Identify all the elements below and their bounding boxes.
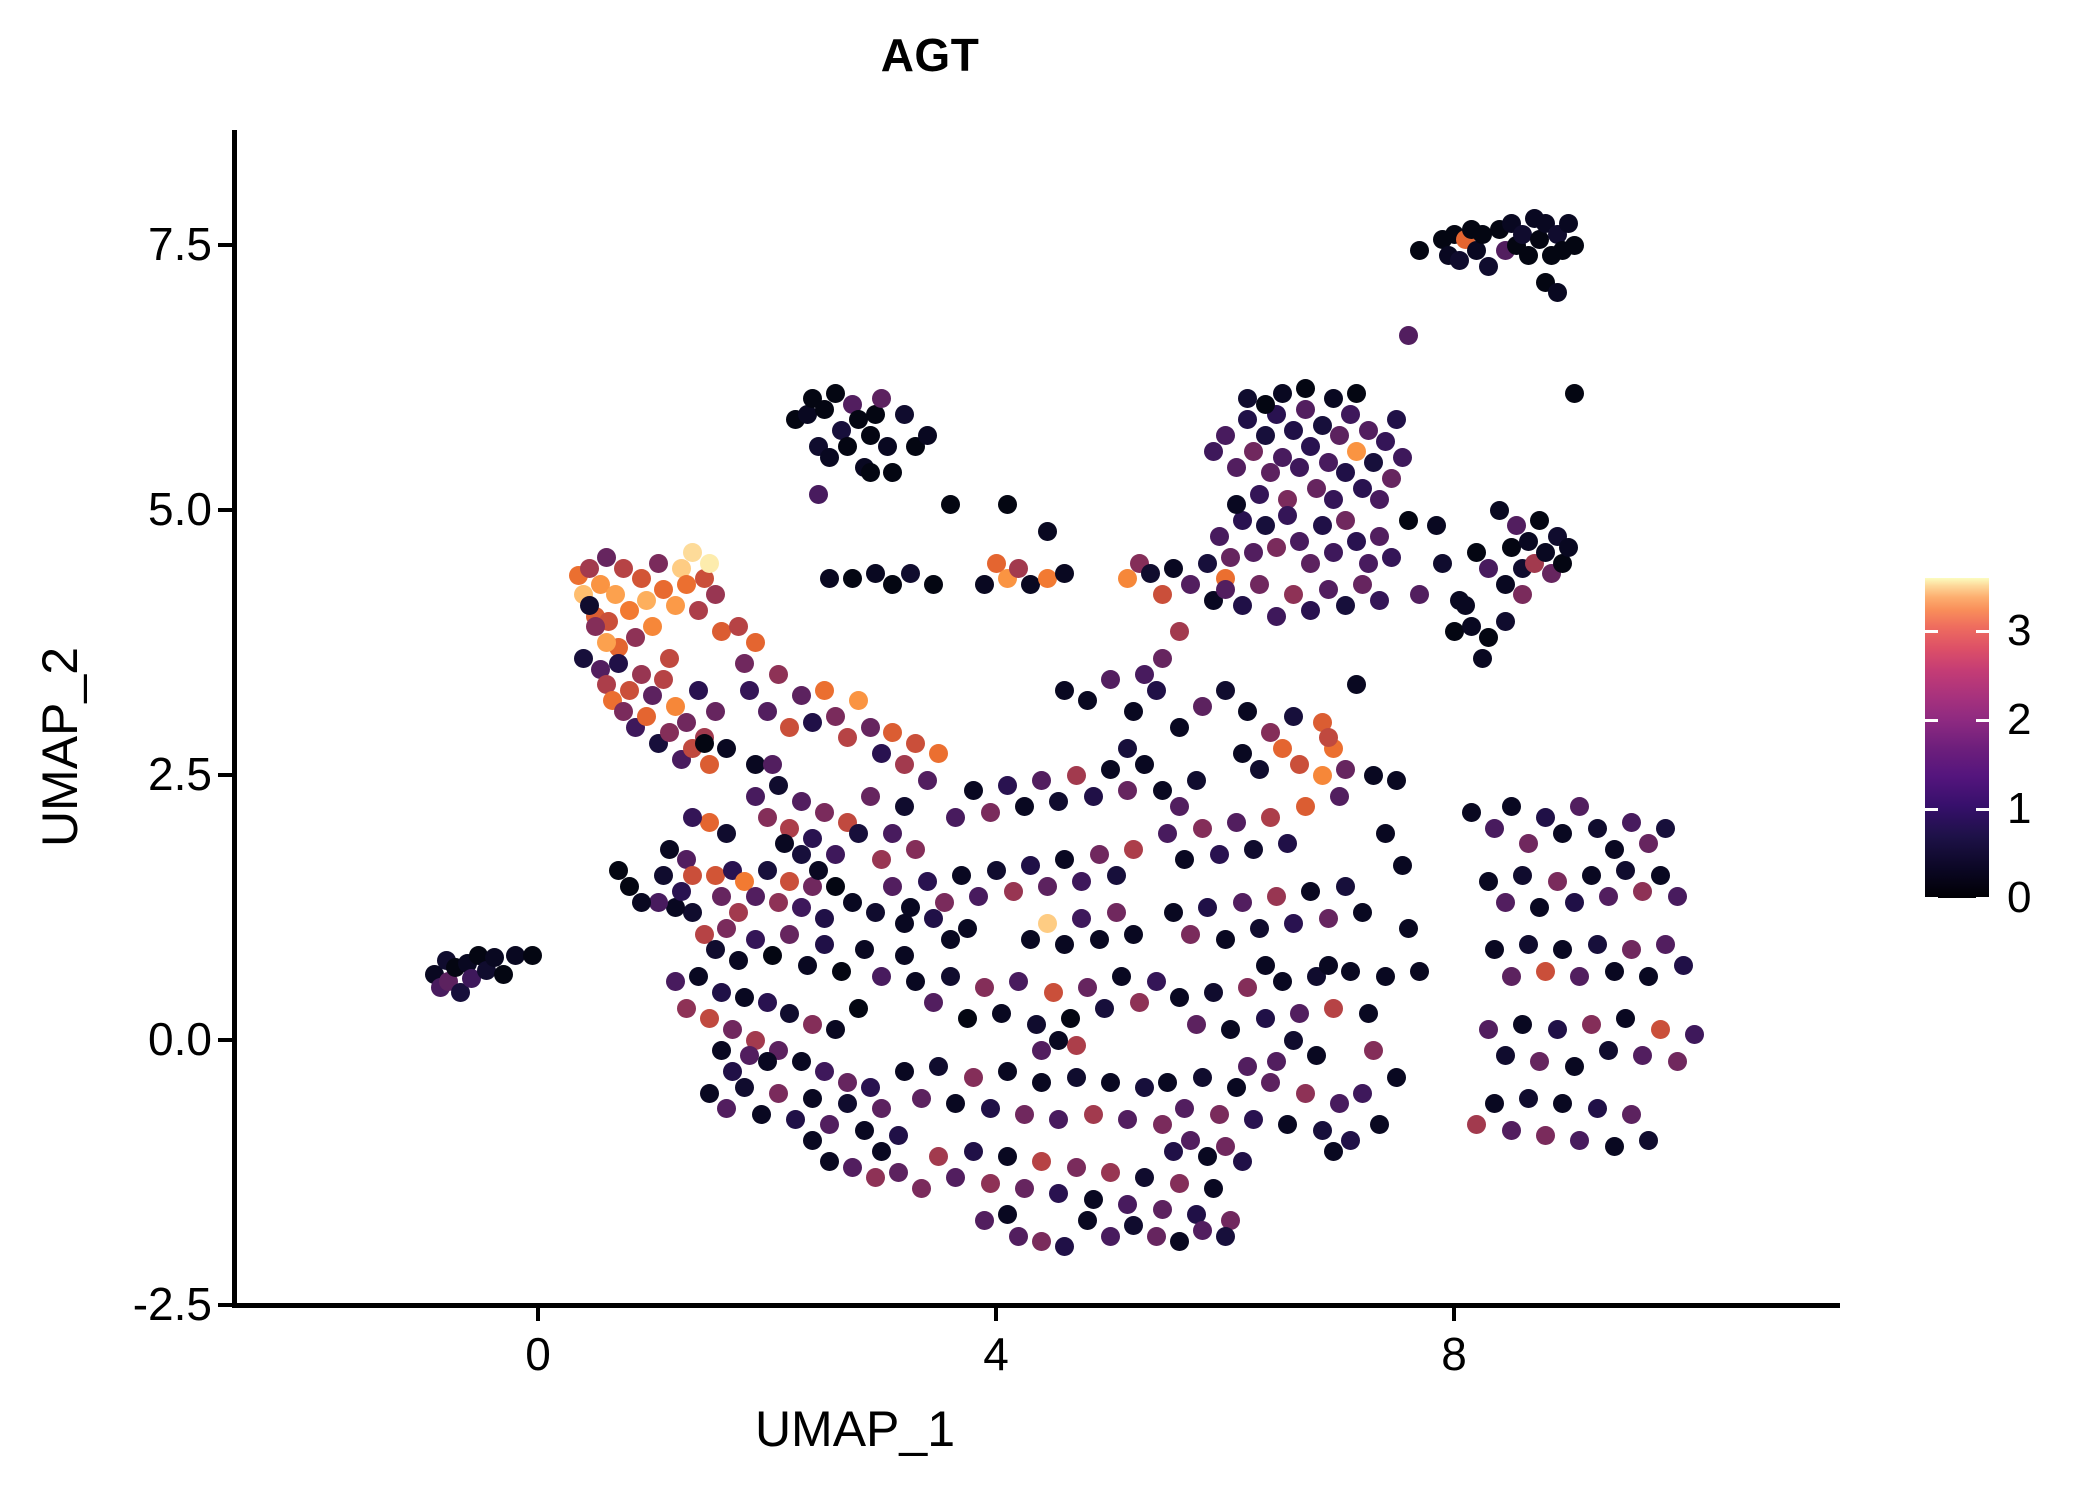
x-tick-label: 8 [1394, 1327, 1514, 1381]
data-point [1124, 702, 1143, 721]
data-point [1021, 856, 1040, 875]
data-point [883, 575, 902, 594]
data-point [872, 850, 891, 869]
data-point [1565, 893, 1584, 912]
data-point [695, 734, 714, 753]
data-point [1198, 1147, 1217, 1166]
data-point [820, 569, 839, 588]
colorbar-tick-label: 2 [2007, 695, 2031, 745]
data-point [712, 887, 731, 906]
data-point [1639, 967, 1658, 986]
data-point [1536, 1126, 1555, 1145]
data-point [866, 564, 885, 583]
data-point [1588, 935, 1607, 954]
page-title: AGT [0, 28, 1860, 82]
data-point [677, 999, 696, 1018]
data-point [637, 707, 656, 726]
data-point [1387, 410, 1406, 429]
data-point [1473, 649, 1492, 668]
data-point [872, 1142, 891, 1161]
data-point [838, 728, 857, 747]
data-point [1261, 463, 1280, 482]
data-point [758, 702, 777, 721]
data-point [1445, 622, 1464, 641]
data-point [1588, 819, 1607, 838]
data-point [672, 882, 691, 901]
data-point [1393, 856, 1412, 875]
data-point [717, 739, 736, 758]
y-tick-label: 2.5 [148, 747, 212, 801]
data-point [574, 649, 593, 668]
data-point [620, 681, 639, 700]
data-point [752, 1105, 771, 1124]
data-point [1216, 1137, 1235, 1156]
data-point [872, 1099, 891, 1118]
data-point [906, 734, 925, 753]
data-point [729, 951, 748, 970]
data-point [901, 564, 920, 583]
data-point [758, 1052, 777, 1071]
data-point [1565, 1057, 1584, 1076]
data-point [763, 946, 782, 965]
data-point [883, 824, 902, 843]
data-point [1147, 1227, 1166, 1246]
data-point [700, 1084, 719, 1103]
data-point [700, 1009, 719, 1028]
data-point [1324, 543, 1343, 562]
data-point [981, 1174, 1000, 1193]
data-point [1559, 214, 1578, 233]
data-point [1588, 1099, 1607, 1118]
data-point [1078, 691, 1097, 710]
data-point [1496, 612, 1515, 631]
data-point [987, 861, 1006, 880]
data-point [998, 1205, 1017, 1224]
data-point [1387, 771, 1406, 790]
data-point [1639, 834, 1658, 853]
data-point [1284, 707, 1303, 726]
data-point [689, 967, 708, 986]
data-point [1548, 283, 1567, 302]
data-point [654, 670, 673, 689]
data-point [1135, 1078, 1154, 1097]
colorbar-tick-mark [1925, 630, 1938, 633]
data-point [1502, 797, 1521, 816]
data-point [626, 628, 645, 647]
data-point [740, 681, 759, 700]
data-point [883, 723, 902, 742]
data-point [1238, 389, 1257, 408]
data-point [1107, 903, 1126, 922]
data-point [838, 1094, 857, 1113]
data-point [1651, 1020, 1670, 1039]
data-point [1044, 983, 1063, 1002]
data-point [723, 1020, 742, 1039]
data-point [1347, 532, 1366, 551]
data-point [683, 903, 702, 922]
data-point [929, 744, 948, 763]
y-tick-mark [218, 1038, 232, 1042]
data-point [1158, 824, 1177, 843]
data-point [815, 935, 834, 954]
data-point [735, 988, 754, 1007]
data-point [958, 919, 977, 938]
data-point [1216, 1227, 1235, 1246]
data-point [780, 872, 799, 891]
data-point [1347, 675, 1366, 694]
data-point [620, 601, 639, 620]
data-point [1135, 755, 1154, 774]
data-point [1382, 469, 1401, 488]
data-point [1565, 384, 1584, 403]
data-point [826, 384, 845, 403]
data-point [1158, 1073, 1177, 1092]
data-point [632, 893, 651, 912]
data-point [1210, 527, 1229, 546]
data-point [1290, 755, 1309, 774]
data-point [1668, 1052, 1687, 1071]
data-point [1095, 999, 1114, 1018]
data-point [1204, 442, 1223, 461]
data-point [1582, 866, 1601, 885]
data-point [1250, 919, 1269, 938]
data-point [815, 1062, 834, 1081]
y-tick-mark [218, 508, 232, 512]
data-point [1296, 379, 1315, 398]
data-point [1570, 967, 1589, 986]
data-point [1284, 914, 1303, 933]
data-point [1502, 1121, 1521, 1140]
data-point [1307, 1046, 1326, 1065]
data-point [1278, 506, 1297, 525]
data-point [717, 919, 736, 938]
data-point [1313, 1121, 1332, 1140]
data-point [717, 824, 736, 843]
data-point [820, 448, 839, 467]
data-point [1359, 1004, 1378, 1023]
colorbar-tick-mark [1925, 719, 1938, 722]
data-point [1015, 1179, 1034, 1198]
data-point [1027, 1015, 1046, 1034]
data-point [769, 1084, 788, 1103]
data-point [1193, 697, 1212, 716]
data-point [786, 1110, 805, 1129]
data-point [1216, 681, 1235, 700]
data-point [735, 654, 754, 673]
data-point [1347, 384, 1366, 403]
data-point [666, 972, 685, 991]
data-point [792, 792, 811, 811]
data-point [1021, 575, 1040, 594]
data-point [1170, 718, 1189, 737]
data-point [906, 840, 925, 859]
data-point [1055, 681, 1074, 700]
data-point [803, 713, 822, 732]
data-point [1399, 919, 1418, 938]
data-point [803, 1089, 822, 1108]
data-point [895, 797, 914, 816]
data-point [1530, 898, 1549, 917]
data-point [1198, 554, 1217, 573]
data-point [1651, 866, 1670, 885]
data-point [849, 691, 868, 710]
data-point [1084, 1190, 1103, 1209]
data-point [1370, 1115, 1389, 1134]
data-point [1153, 585, 1172, 604]
data-point [803, 1131, 822, 1150]
data-point [1496, 1046, 1515, 1065]
data-point [614, 559, 633, 578]
data-point [981, 803, 1000, 822]
data-point [1193, 1221, 1212, 1240]
data-point [924, 993, 943, 1012]
data-point [1049, 1110, 1068, 1129]
data-point [1164, 903, 1183, 922]
data-point [1485, 819, 1504, 838]
data-point [1462, 803, 1481, 822]
data-point [758, 861, 777, 880]
data-point [1078, 978, 1097, 997]
data-point [1084, 787, 1103, 806]
data-point [1519, 1089, 1538, 1108]
data-point [1256, 1009, 1275, 1028]
data-point [1341, 1131, 1360, 1150]
data-point [1256, 426, 1275, 445]
data-point [975, 978, 994, 997]
plot-panel[interactable] [235, 130, 1840, 1305]
data-point [769, 665, 788, 684]
colorbar-legend[interactable]: 0123 [1925, 578, 1989, 898]
data-point [1153, 1115, 1172, 1134]
data-point [1198, 898, 1217, 917]
x-tick-mark [536, 1307, 540, 1321]
x-tick-label: 4 [936, 1327, 1056, 1381]
data-point [1324, 1142, 1343, 1161]
data-point [1221, 548, 1240, 567]
data-point [1233, 893, 1252, 912]
data-point [1256, 395, 1275, 414]
data-point [1376, 967, 1395, 986]
data-point [861, 463, 880, 482]
data-point [758, 993, 777, 1012]
data-point [1530, 511, 1549, 530]
data-point [1210, 1105, 1229, 1124]
data-point [946, 1094, 965, 1113]
data-point [1536, 808, 1555, 827]
data-point [632, 665, 651, 684]
data-point [1147, 681, 1166, 700]
data-point [1616, 1009, 1635, 1028]
data-point [1565, 236, 1584, 255]
data-point [1427, 516, 1446, 535]
data-point [935, 893, 954, 912]
data-point [1227, 495, 1246, 514]
data-point [637, 591, 656, 610]
data-point [1296, 797, 1315, 816]
data-point [889, 1126, 908, 1145]
data-point [1216, 580, 1235, 599]
data-point [1479, 257, 1498, 276]
data-point [1513, 1015, 1532, 1034]
data-point [1147, 972, 1166, 991]
data-point [1278, 1115, 1297, 1134]
data-point [1462, 617, 1481, 636]
x-tick-mark [1452, 1307, 1456, 1321]
data-point [1267, 887, 1286, 906]
data-point [1301, 437, 1320, 456]
data-point [700, 755, 719, 774]
data-point [1004, 882, 1023, 901]
data-point [1347, 442, 1366, 461]
data-point [895, 755, 914, 774]
data-point [1530, 1052, 1549, 1071]
data-point [1336, 877, 1355, 896]
y-tick-mark [218, 773, 232, 777]
data-point [975, 1211, 994, 1230]
data-point [1536, 962, 1555, 981]
data-point [1181, 1131, 1200, 1150]
data-point [809, 861, 828, 880]
data-point [1674, 956, 1693, 975]
data-point [717, 1099, 736, 1118]
data-point [1519, 532, 1538, 551]
data-point [1553, 940, 1572, 959]
data-point [1244, 543, 1263, 562]
data-point [1485, 1094, 1504, 1113]
data-point [815, 681, 834, 700]
data-point [975, 575, 994, 594]
data-point [918, 426, 937, 445]
data-point [1153, 781, 1172, 800]
data-point [632, 569, 651, 588]
data-point [952, 866, 971, 885]
data-point [1118, 1110, 1137, 1129]
data-point [1616, 861, 1635, 880]
y-axis-line [232, 130, 237, 1308]
data-point [780, 1004, 799, 1023]
data-point [1490, 501, 1509, 520]
data-point [1553, 1094, 1572, 1113]
data-point [1301, 554, 1320, 573]
data-point [1107, 866, 1126, 885]
y-tick-label: 5.0 [148, 482, 212, 536]
data-point [740, 1046, 759, 1065]
data-point [1250, 485, 1269, 504]
data-point [1502, 967, 1521, 986]
data-point [1519, 246, 1538, 265]
data-point [689, 601, 708, 620]
data-point [1227, 1078, 1246, 1097]
data-point [843, 1158, 862, 1177]
data-point [1238, 978, 1257, 997]
data-point [1410, 585, 1429, 604]
data-point [964, 1142, 983, 1161]
data-point [609, 861, 628, 880]
data-point [1055, 1237, 1074, 1256]
data-point [1290, 458, 1309, 477]
data-point [1364, 453, 1383, 472]
data-point [1238, 702, 1257, 721]
data-point [1605, 1137, 1624, 1156]
data-point [1187, 1015, 1206, 1034]
data-point [1078, 1211, 1097, 1230]
data-point [1359, 421, 1378, 440]
data-point [580, 596, 599, 615]
y-tick-label: -2.5 [133, 1277, 212, 1331]
data-point [792, 845, 811, 864]
data-point [918, 872, 937, 891]
data-point [866, 903, 885, 922]
data-point [660, 723, 679, 742]
data-point [912, 1089, 931, 1108]
data-point [1009, 1227, 1028, 1246]
data-point [883, 463, 902, 482]
data-point [832, 962, 851, 981]
data-point [872, 744, 891, 763]
data-point [872, 389, 891, 408]
data-point [746, 887, 765, 906]
data-point [1187, 771, 1206, 790]
data-point [1193, 1068, 1212, 1087]
data-point [1656, 935, 1675, 954]
data-point [1193, 819, 1212, 838]
data-point [1605, 962, 1624, 981]
data-point [826, 1020, 845, 1039]
data-point [1244, 1110, 1263, 1129]
data-point [1238, 1057, 1257, 1076]
data-point [706, 702, 725, 721]
data-point [820, 1115, 839, 1134]
colorbar-tick-mark [1976, 808, 1989, 811]
data-point [1582, 1015, 1601, 1034]
data-point [918, 771, 937, 790]
data-point [1072, 872, 1091, 891]
data-point [706, 940, 725, 959]
data-point [1032, 1152, 1051, 1171]
data-point [1473, 225, 1492, 244]
colorbar-tick-mark [1976, 719, 1989, 722]
colorbar-gradient [1925, 578, 1989, 898]
data-point [689, 681, 708, 700]
data-point [1118, 739, 1137, 758]
data-point [815, 909, 834, 928]
data-point [1479, 628, 1498, 647]
data-point [1256, 956, 1275, 975]
data-point [620, 877, 639, 896]
data-point [1330, 787, 1349, 806]
data-point [1353, 1084, 1372, 1103]
data-point [849, 999, 868, 1018]
data-point [769, 893, 788, 912]
data-point [838, 1073, 857, 1092]
data-point [494, 965, 513, 984]
data-point [998, 1062, 1017, 1081]
x-axis-label: UMAP_1 [235, 1400, 1475, 1458]
data-point [1433, 554, 1452, 573]
data-point [1244, 840, 1263, 859]
data-point [1548, 872, 1567, 891]
data-point [1599, 887, 1618, 906]
data-point [1319, 956, 1338, 975]
data-point [1049, 792, 1068, 811]
data-point [1359, 554, 1378, 573]
data-point [1456, 596, 1475, 615]
data-point [1084, 1105, 1103, 1124]
data-point [1278, 834, 1297, 853]
data-point [1101, 1073, 1120, 1092]
data-point [861, 787, 880, 806]
data-point [803, 1015, 822, 1034]
